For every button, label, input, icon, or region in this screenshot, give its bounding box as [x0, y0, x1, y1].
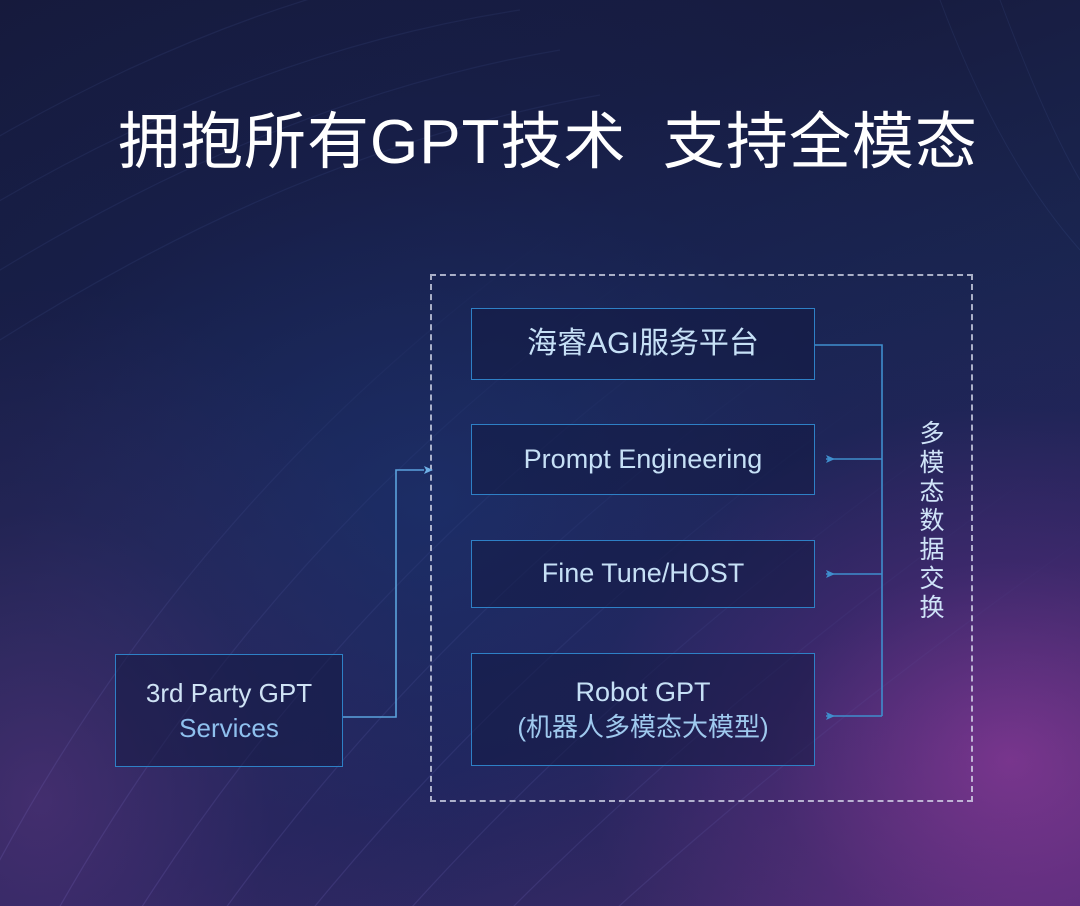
node-fine-tune-host[interactable]: Fine Tune/HOST — [471, 540, 815, 608]
node-thirdparty-sublabel: Services — [179, 713, 279, 744]
node-thirdparty-label: 3rd Party GPT — [146, 678, 312, 709]
side-label-char-1: 模 — [912, 449, 952, 478]
node-platform-label: 海睿AGI服务平台 — [527, 326, 759, 361]
side-label-char-2: 态 — [912, 478, 952, 507]
node-robot-label: Robot GPT — [575, 677, 710, 709]
node-robot-gpt[interactable]: Robot GPT (机器人多模态大模型) — [471, 653, 815, 766]
side-label-char-4: 据 — [912, 536, 952, 565]
node-prompt-label: Prompt Engineering — [524, 444, 763, 476]
side-label-multimodal-exchange: 多 模 态 数 据 交 换 — [912, 420, 952, 623]
slide-title: 拥抱所有GPT技术 支持全模态 — [118, 112, 978, 174]
node-prompt-engineering[interactable]: Prompt Engineering — [471, 424, 815, 495]
node-platform[interactable]: 海睿AGI服务平台 — [471, 308, 815, 380]
node-third-party-gpt[interactable]: 3rd Party GPT Services — [115, 654, 343, 767]
side-label-char-5: 交 — [912, 565, 952, 594]
slide-canvas: 拥抱所有GPT技术 支持全模态 海睿AGI服务平台 — [0, 0, 1080, 906]
node-finetune-label: Fine Tune/HOST — [542, 558, 745, 590]
node-robot-sublabel: (机器人多模态大模型) — [517, 712, 768, 743]
side-label-char-3: 数 — [912, 507, 952, 536]
side-label-char-6: 换 — [912, 594, 952, 623]
side-label-char-0: 多 — [912, 420, 952, 449]
